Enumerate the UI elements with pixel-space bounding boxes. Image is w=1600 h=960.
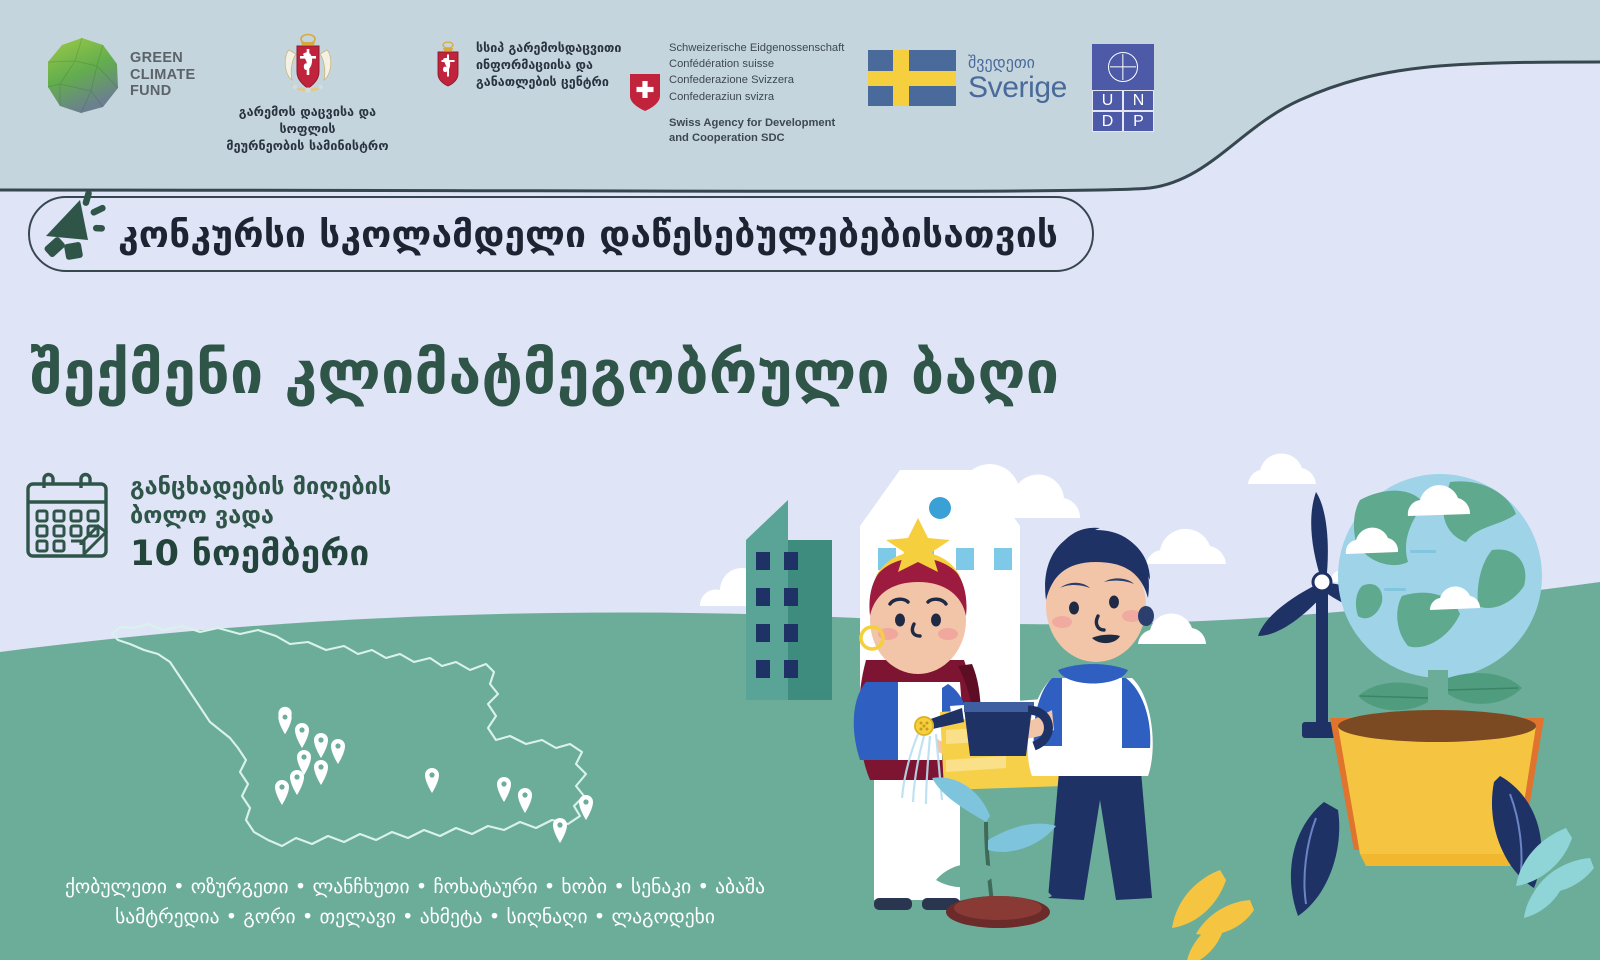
municipalities-list: ქობულეთი • ოზურგეთი • ლანჩხუთი • ჩოხატაუ… bbox=[0, 872, 830, 932]
eiec-caption-line-2: ინფორმაციისა და bbox=[476, 57, 593, 72]
announcement-badge: კონკურსი სკოლამდელი დაწესებულებებისათვის bbox=[28, 196, 1094, 272]
municipalities-line-2: სამტრედია • გორი • თელავი • ახმეტა • სიღ… bbox=[0, 902, 830, 932]
sweden-wordmark: შვედეთი Sverige bbox=[968, 53, 1067, 104]
eiec-caption: სსიპ გარემოსდაცვითი ინფორმაციისა და განა… bbox=[476, 40, 626, 91]
gcf-line-2: CLIMATE bbox=[130, 67, 195, 83]
apartment-building bbox=[746, 500, 832, 700]
page-title: შექმენი კლიმატმეგობრული ბაღი bbox=[30, 338, 1059, 407]
swedish-flag-icon bbox=[868, 50, 956, 106]
logo-sweden: შვედეთი Sverige bbox=[868, 50, 1067, 106]
georgia-shield-icon bbox=[430, 41, 466, 89]
gcf-polygon-icon bbox=[45, 36, 120, 114]
deadline-label-line-2: ბოლო ვადა bbox=[130, 501, 274, 529]
deadline-date: 10 ნოემბერი bbox=[130, 534, 391, 574]
sweden-label-ka: შვედეთი bbox=[968, 53, 1067, 72]
undp-letter-p: P bbox=[1123, 111, 1154, 132]
logo-undp: U N D P bbox=[1092, 44, 1154, 132]
eiec-caption-line-3: განათლების ცენტრი bbox=[476, 74, 609, 89]
undp-box: U N D P bbox=[1092, 44, 1154, 132]
swiss-line-it: Confederazione Svizzera bbox=[669, 72, 844, 88]
undp-letter-n: N bbox=[1123, 90, 1154, 111]
gcf-line-3: FUND bbox=[130, 83, 195, 99]
undp-letter-u: U bbox=[1092, 90, 1123, 111]
sdc-bold-line-1: Swiss Agency for Development bbox=[669, 116, 844, 131]
calendar-icon bbox=[22, 470, 112, 562]
logo-green-climate-fund: GREEN CLIMATE FUND bbox=[45, 36, 195, 114]
swiss-line-de: Schweizerische Eidgenossenschaft bbox=[669, 40, 844, 56]
swiss-wordmark: Schweizerische Eidgenossenschaft Confédé… bbox=[669, 40, 844, 146]
flag-horizontal-bar bbox=[868, 71, 956, 86]
swiss-line-fr: Confédération suisse bbox=[669, 56, 844, 72]
georgia-map bbox=[90, 600, 670, 900]
sweden-label-latin: Sverige bbox=[968, 72, 1067, 104]
ministry-caption-line-1: გარემოს დაცვისა და სოფლის bbox=[239, 104, 376, 136]
logo-ministry-environment: გარემოს დაცვისა და სოფლის მეურნეობის სამ… bbox=[215, 32, 400, 155]
gcf-line-1: GREEN bbox=[130, 50, 195, 66]
deadline-text: განცხადების მიღების ბოლო ვადა 10 ნოემბერ… bbox=[130, 470, 391, 574]
un-emblem-icon bbox=[1108, 52, 1138, 82]
undp-emblem-area bbox=[1092, 44, 1154, 90]
ministry-caption-line-2: მეურნეობის სამინისტრო bbox=[226, 138, 388, 153]
sdc-bold-line-2: and Cooperation SDC bbox=[669, 131, 844, 146]
georgia-coat-of-arms-icon bbox=[280, 32, 336, 100]
swiss-line-rm: Confederaziun svizra bbox=[669, 89, 844, 105]
municipalities-line-1: ქობულეთი • ოზურგეთი • ლანჩხუთი • ჩოხატაუ… bbox=[0, 872, 830, 902]
logo-environmental-info-centre: სსიპ გარემოსდაცვითი ინფორმაციისა და განა… bbox=[430, 40, 626, 91]
deadline-block: განცხადების მიღების ბოლო ვადა 10 ნოემბერ… bbox=[22, 470, 391, 574]
undp-letter-grid: U N D P bbox=[1092, 90, 1154, 132]
partner-logo-row: GREEN CLIMATE FUND bbox=[0, 0, 1250, 190]
logo-swiss-confederation: Schweizerische Eidgenossenschaft Confédé… bbox=[630, 40, 844, 146]
gcf-wordmark: GREEN CLIMATE FUND bbox=[130, 50, 195, 99]
announcement-badge-pill: კონკურსი სკოლამდელი დაწესებულებებისათვის bbox=[28, 196, 1094, 272]
announcement-badge-text: კონკურსი სკოლამდელი დაწესებულებებისათვის bbox=[118, 213, 1058, 256]
undp-letter-d: D bbox=[1092, 111, 1123, 132]
deadline-label: განცხადების მიღების ბოლო ვადა bbox=[130, 472, 391, 529]
swiss-shield-icon bbox=[630, 74, 660, 112]
eiec-caption-line-1: სსიპ გარემოსდაცვითი bbox=[476, 40, 621, 55]
megaphone-icon bbox=[32, 184, 118, 270]
deadline-label-line-1: განცხადების მიღების bbox=[130, 472, 391, 500]
ministry-caption: გარემოს დაცვისა და სოფლის მეურნეობის სამ… bbox=[215, 104, 400, 155]
poster-root: GREEN CLIMATE FUND bbox=[0, 0, 1600, 960]
